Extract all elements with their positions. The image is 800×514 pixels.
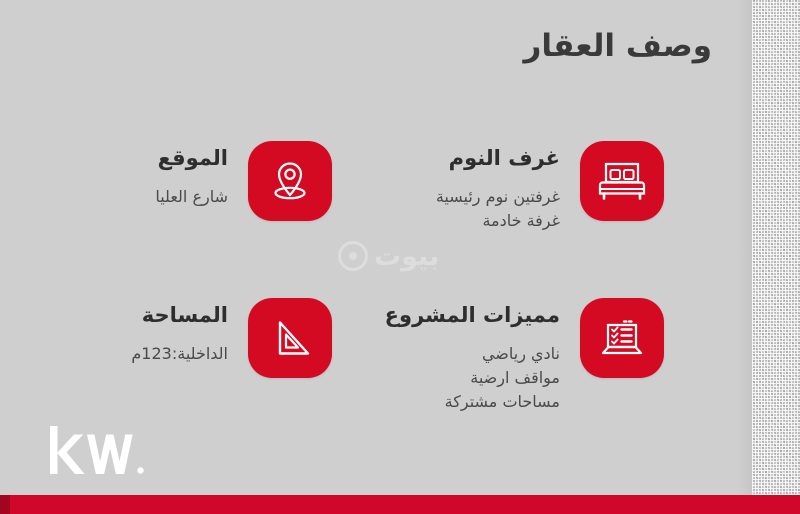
bedrooms-text-block: غرف النوم غرفتين نوم رئيسية غرفة خادمة xyxy=(320,145,560,233)
bedrooms-icon-tile xyxy=(580,141,664,221)
feature-title-area: المساحة xyxy=(0,302,228,328)
feature-line-project-3: مساحات مشتركة xyxy=(320,390,560,414)
area-text-block: المساحة الداخلية:123م xyxy=(0,302,228,366)
feature-line-location-1: شارع العليا xyxy=(0,185,228,209)
bottom-bar-left-shade xyxy=(0,495,10,514)
page-title: وصف العقار xyxy=(524,28,713,64)
feature-line-area-1: الداخلية:123م xyxy=(0,342,228,366)
feature-title-location: الموقع xyxy=(0,145,228,171)
kw-logo xyxy=(44,424,154,476)
project-features-icon-tile xyxy=(580,298,664,378)
project-features-text-block: مميزات المشروع نادي رياضي مواقف ارضية مس… xyxy=(320,302,560,414)
watermark-ring-icon xyxy=(338,241,368,271)
feature-line-bedrooms-2: غرفة خادمة xyxy=(320,209,560,233)
watermark-text: بيوت xyxy=(374,243,439,270)
feature-title-project-features: مميزات المشروع xyxy=(320,302,560,328)
right-texture-panel xyxy=(752,0,800,495)
texture-fade-gradient xyxy=(738,0,752,495)
bayut-watermark: بيوت xyxy=(338,236,464,276)
feature-title-bedrooms: غرف النوم xyxy=(320,145,560,171)
bottom-accent-bar xyxy=(0,495,800,514)
feature-line-project-2: مواقف ارضية xyxy=(320,366,560,390)
feature-line-bedrooms-1: غرفتين نوم رئيسية xyxy=(320,185,560,209)
location-text-block: الموقع شارع العليا xyxy=(0,145,228,209)
feature-line-project-1: نادي رياضي xyxy=(320,342,560,366)
infographic-canvas: وصف العقار الموقع شارع العليا xyxy=(0,0,800,514)
